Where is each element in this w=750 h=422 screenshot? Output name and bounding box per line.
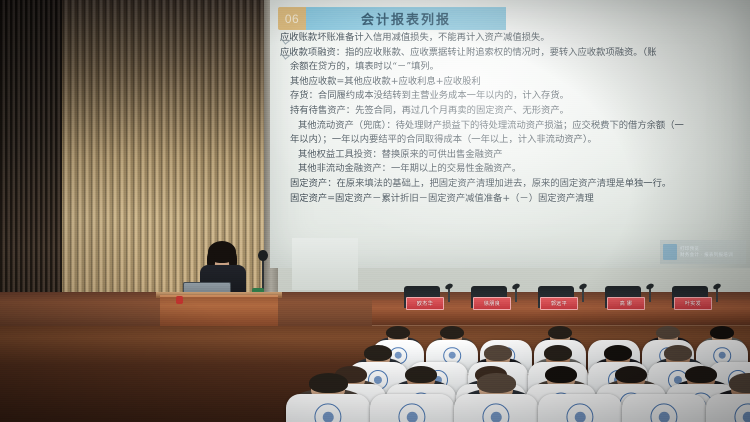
- slide-line-text: 年以内）；一年以内要结平的合同取得成本（一年以上，计入非流动资产）。: [290, 134, 597, 145]
- nameplate: 郭远平: [540, 297, 578, 310]
- slide-text-line: 固定资产=固定资产－累计折旧－固定资产减值准备+（－）固定资产清理: [280, 192, 744, 207]
- slide-watermark: 打印预览 财务会计 · 报表列报培训: [660, 240, 746, 264]
- slide-chapter-title: 会计报表列报: [306, 7, 506, 30]
- slide-text-line: 固定资产：在原来填法的基础上，把固定资产清理加进去，原来的固定资产清理是单独一行…: [280, 177, 744, 192]
- nameplate: 欧杰华: [406, 297, 444, 310]
- nameplate: 徐朋良: [473, 297, 511, 310]
- slide-line-text: 其他流动资产（兜底）：待处理财产损益下的待处理流动资产损溢；应交税费下的借方余额…: [298, 120, 684, 131]
- slide-line-text: 应收款项融资：指的应收账款、应收票据转让附追索权的情况时，要转入应收款项融资。（…: [280, 47, 657, 58]
- nameplate: 高 娜: [607, 297, 645, 310]
- audience-person-hair: [544, 345, 572, 361]
- slide-text-line: 持有待售资产：先签合同，再过几个月再卖的固定资产、无形资产。: [280, 104, 744, 119]
- watermark-icon: [663, 244, 677, 260]
- slide-text-line: 余额在贷方的，填表时以“－”填列。: [280, 60, 744, 75]
- audience-person-hair: [548, 326, 572, 339]
- audience-person-hair: [656, 326, 680, 339]
- presenter-hair: [208, 241, 236, 263]
- watermark-line2: 财务会计 · 报表列报培训: [680, 252, 733, 258]
- table-microphone: [582, 288, 584, 302]
- audience-person-hair: [309, 373, 348, 393]
- slide-line-text: 持有待售资产：先签合同，再过几个月再卖的固定资产、无形资产。: [290, 105, 569, 116]
- slide-text-line: 存货：合同履约成本没结转到主营业务成本一年以内的，计入存货。: [280, 89, 744, 104]
- slide-line-text: 固定资产=固定资产－累计折旧－固定资产减值准备+（－）固定资产清理: [290, 193, 594, 204]
- audience-person-hair: [440, 326, 464, 339]
- chair-cover-emblem-icon: [566, 403, 593, 422]
- slide-line-text: 存货：合同履约成本没结转到主营业务成本一年以内的，计入存货。: [290, 90, 569, 101]
- slide-line-text: 其他应收款=其他应收款+应收利息+应收股利: [290, 76, 481, 87]
- slide-text-line: 应收款项融资：指的应收账款、应收票据转让附追索权的情况时，要转入应收款项融资。（…: [280, 46, 744, 61]
- slide-line-text: 余额在贷方的，填表时以“－”填列。: [290, 61, 439, 72]
- slide-text-line: 其他非流动金融资产：一年期以上的交易性金融资产。: [280, 162, 744, 177]
- audience-person-hair: [729, 373, 750, 393]
- podium-indicator: [176, 296, 183, 304]
- chair-cover-emblem-icon: [314, 403, 341, 422]
- nameplate: 叶实发: [674, 297, 712, 310]
- audience-person-hair: [615, 366, 647, 383]
- audience-person-hair: [386, 326, 410, 339]
- slide-text-line: 其他应收款=其他应收款+应收利息+应收股利: [280, 75, 744, 90]
- audience-chair: [622, 394, 706, 422]
- projected-slide: 06 会计报表列报 应收账款坏账准备计入信用减值损失，不能再计入资产减值损失。应…: [270, 0, 750, 268]
- chair-cover-emblem-icon: [398, 403, 425, 422]
- slide-body-text: 应收账款坏账准备计入信用减值损失，不能再计入资产减值损失。应收款项融资：指的应收…: [280, 31, 744, 206]
- audience-chair: [706, 394, 750, 422]
- slide-text-line: 应收账款坏账准备计入信用减值损失，不能再计入资产减值损失。: [280, 31, 744, 46]
- secondary-display: [292, 238, 358, 290]
- chair-cover-emblem-icon: [482, 403, 509, 422]
- slide-line-text: 其他非流动金融资产：一年期以上的交易性金融资产。: [298, 163, 521, 174]
- slide-header: 06 会计报表列报: [278, 7, 506, 30]
- stage-curtain-shadow: [0, 0, 62, 330]
- chair-cover-emblem-icon: [734, 403, 750, 422]
- slide-text-line: 年以内）；一年以内要结平的合同取得成本（一年以上，计入非流动资产）。: [280, 133, 744, 148]
- slide-text-line: 其他权益工具投资：替换原来的可供出售金融资产: [280, 148, 744, 163]
- slide-line-text: 其他权益工具投资：替换原来的可供出售金融资产: [298, 149, 503, 160]
- audience-chair: [538, 394, 622, 422]
- screenshot-frame: 06 会计报表列报 应收账款坏账准备计入信用减值损失，不能再计入资产减值损失。应…: [0, 0, 750, 422]
- audience-person-hair: [685, 366, 717, 383]
- audience-person-hair: [664, 345, 692, 361]
- audience-person-hair: [545, 366, 577, 383]
- slide-line-text: 固定资产：在原来填法的基础上，把固定资产清理加进去，原来的固定资产清理是单独一行…: [290, 178, 671, 189]
- slide-chapter-number: 06: [278, 7, 306, 30]
- slide-text-line: 其他流动资产（兜底）：待处理财产损益下的待处理流动资产损溢；应交税费下的借方余额…: [280, 119, 744, 134]
- audience-chair: [370, 394, 454, 422]
- audience-seating: [0, 326, 750, 422]
- slide-line-text: 应收账款坏账准备计入信用减值损失，不能再计入资产减值损失。: [280, 32, 550, 43]
- chair-cover-emblem-icon: [650, 403, 677, 422]
- audience-person-hair: [405, 366, 437, 383]
- audience-person-hair: [477, 373, 516, 393]
- table-microphone: [515, 288, 517, 302]
- table-microphone: [649, 288, 651, 302]
- audience-person-hair: [604, 345, 632, 361]
- table-microphone: [448, 288, 450, 302]
- audience-person-hair: [484, 345, 512, 361]
- table-microphone: [716, 288, 718, 302]
- audience-person-hair: [710, 326, 734, 339]
- audience-person-hair: [364, 345, 392, 361]
- audience-chair: [286, 394, 370, 422]
- audience-chair: [454, 394, 538, 422]
